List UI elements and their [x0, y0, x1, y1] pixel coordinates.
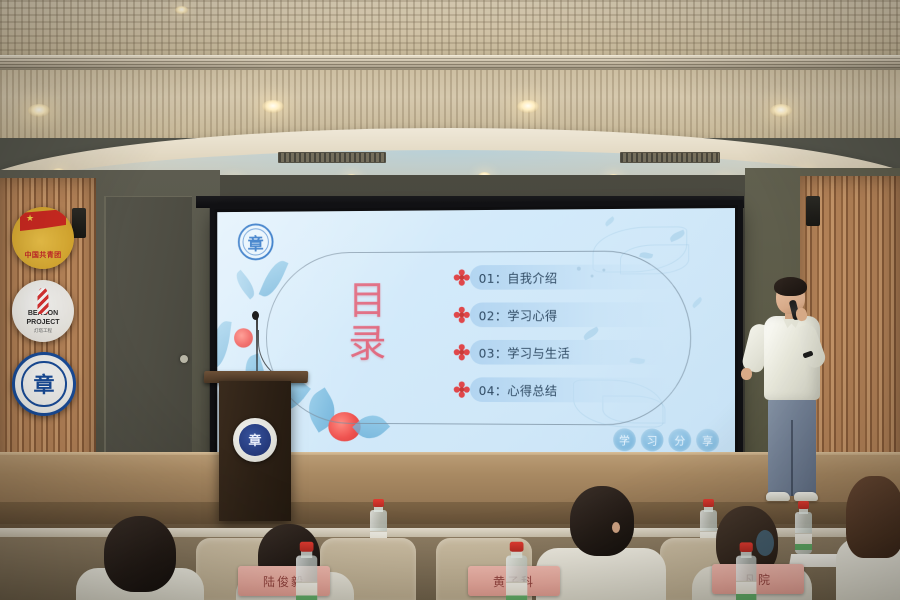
decor-leaf: [232, 270, 259, 300]
audience-head: [846, 476, 900, 558]
toc-item-label: 02：学习心得: [479, 305, 558, 324]
slide-university-logo: 章: [238, 223, 274, 260]
torch-icon: [38, 288, 49, 314]
ceiling-downlight: [770, 104, 792, 117]
podium-seal: 章: [233, 418, 277, 462]
tagline-badge: 享: [696, 429, 719, 452]
presenter-shoe: [766, 492, 790, 501]
toc-item-label: 01：自我介绍: [479, 268, 558, 287]
water-bottle[interactable]: [736, 544, 756, 600]
hair-tie: [756, 530, 774, 556]
beacon-subtitle: 灯塔工程: [34, 328, 52, 334]
ceiling-air-vent: [620, 152, 720, 163]
slide-tagline: 学 习 分 享: [613, 428, 719, 452]
audience-head: [104, 516, 176, 592]
microphone-stand: [256, 316, 258, 374]
audience-head: [570, 486, 634, 556]
ceiling-upper-panel: [0, 0, 900, 58]
presenter-leg-split: [791, 420, 793, 496]
college-seal-emblem: 章: [12, 352, 76, 416]
auditorium-photo: ★ 中国共青团 BEACON PROJECT 灯塔工程 章: [0, 0, 900, 600]
wall-speaker: [806, 196, 820, 226]
ceiling-downlight: [175, 6, 188, 14]
flower-icon: [453, 268, 471, 287]
bottle-cap: [740, 542, 753, 552]
star-icon: ★: [26, 214, 34, 222]
beacon-title-2: PROJECT: [26, 319, 59, 327]
decor-petal: [691, 297, 703, 309]
ceiling-beam-grille: [0, 58, 900, 68]
youth-league-flag-emblem: ★ 中国共青团: [12, 207, 74, 269]
podium-seal-glyph: 章: [239, 424, 271, 456]
bottle-label-green-band: [506, 596, 527, 600]
slide-title: 目录: [338, 279, 399, 365]
microphone-icon: [252, 311, 259, 320]
decor-petal: [604, 216, 616, 226]
emblem-caption: 中国共青团: [12, 250, 74, 260]
bottle-label-green-band: [736, 594, 756, 600]
water-bottle[interactable]: [296, 543, 317, 600]
bottle-cap: [703, 499, 714, 507]
door-handle-icon[interactable]: [180, 355, 188, 363]
ceiling-downlight: [28, 104, 50, 117]
ceiling-air-vent: [278, 152, 386, 163]
presenter-hair: [774, 277, 807, 296]
toc-item-label: 04：心得总结: [479, 380, 558, 399]
bottle-cap: [510, 542, 524, 552]
bottle-label-green-band: [296, 596, 317, 600]
ceiling-downlight: [262, 100, 284, 113]
side-door[interactable]: [104, 196, 192, 484]
tagline-badge: 习: [641, 428, 664, 451]
flower-icon: [453, 343, 471, 362]
bottle-cap: [798, 501, 809, 509]
toc-item[interactable]: 02：学习心得: [453, 302, 688, 327]
presenter-left-hand: [741, 368, 752, 380]
toc-item-label: 03：学习与生活: [479, 343, 570, 362]
beacon-project-emblem: BEACON PROJECT 灯塔工程: [12, 280, 74, 342]
toc-item[interactable]: 03：学习与生活: [453, 340, 688, 365]
college-seal-glyph: 章: [21, 361, 66, 406]
tagline-badge: 学: [613, 428, 636, 451]
ceiling-downlight: [517, 100, 539, 113]
flower-icon: [453, 380, 471, 399]
decor-leaf: [217, 320, 231, 370]
toc-item[interactable]: 01：自我介绍: [453, 264, 688, 290]
toc-item[interactable]: 04：心得总结: [453, 377, 688, 403]
water-bottle[interactable]: [506, 543, 527, 600]
bottle-cap: [373, 499, 384, 507]
name-card: 凡院: [712, 564, 804, 594]
presenter: [748, 280, 844, 512]
audience-ear: [612, 522, 620, 533]
tagline-badge: 分: [668, 429, 691, 452]
toc-list: 01：自我介绍 02：学习心得 03：学习与生活: [453, 264, 688, 416]
bottle-cap: [300, 542, 314, 552]
flower-icon: [453, 306, 471, 325]
bottle-label-green-band: [795, 544, 812, 550]
presenter-shoe: [794, 492, 818, 501]
water-bottle[interactable]: [795, 502, 812, 554]
wall-speaker: [72, 208, 86, 238]
decor-flower: [234, 328, 253, 347]
